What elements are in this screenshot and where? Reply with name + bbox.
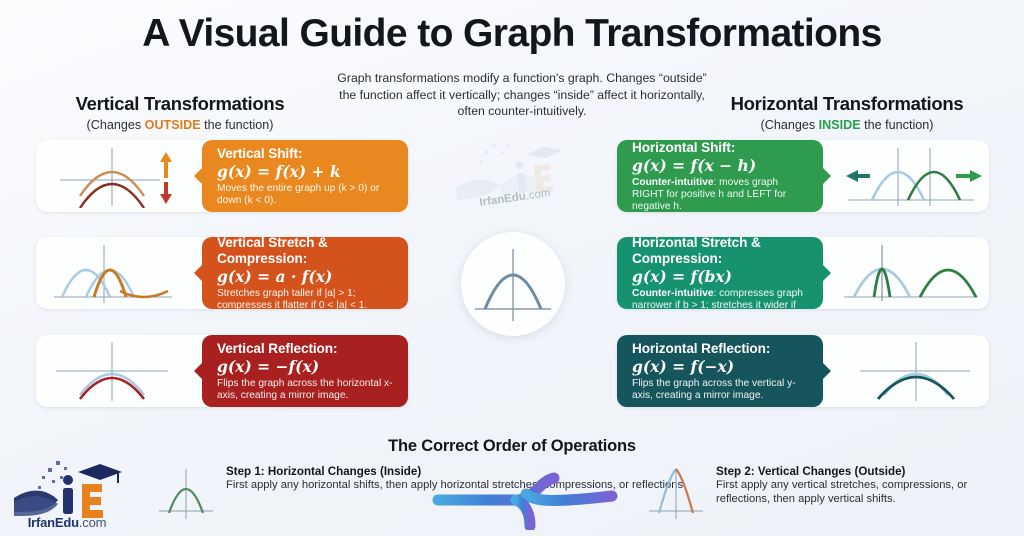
graph-horizontal-shift: [831, 140, 989, 212]
brand-name: IrfanEdu: [28, 515, 79, 530]
graph-vertical-shift: [36, 140, 194, 212]
card-title: Horizontal Shift:: [632, 140, 812, 156]
center-watermark-text: IrfanEdu.com: [455, 184, 576, 213]
step-2-graph: [645, 465, 707, 526]
card-title: Vertical Stretch & Compression:: [217, 235, 397, 266]
step1-chart-icon: [155, 465, 217, 521]
flow-arrow: [430, 470, 620, 530]
sub-pre-left: (Changes: [87, 118, 145, 132]
watermark-tld: .com: [525, 187, 551, 202]
step-2-body: First apply any vertical stretches, comp…: [716, 479, 1024, 506]
left-arrow-icon: [846, 170, 870, 182]
panel-vertical-shift: Vertical Shift: g(x) = f(x) + k Moves th…: [202, 140, 408, 212]
card-description: Stretches graph taller if |a| > 1; compr…: [217, 288, 397, 312]
horizontal-column-sub: (Changes INSIDE the function): [692, 118, 1002, 132]
sub-post-right: the function): [861, 118, 934, 132]
graph-horizontal-stretch: [831, 237, 989, 309]
horizontal-column-heading: Horizontal Transformations: [692, 93, 1002, 115]
card-horizontal-stretch[interactable]: Horizontal Stretch & Compression: g(x) =…: [617, 237, 989, 309]
watermark-name: IrfanEdu: [479, 191, 527, 209]
card-equation: g(x) = f(x) + k: [217, 162, 397, 181]
card-description: Counter-intuitive: moves graph RIGHT for…: [632, 177, 812, 213]
card-title: Vertical Reflection:: [217, 341, 397, 357]
card-horizontal-reflection[interactable]: Horizontal Reflection: g(x) = f(−x) Flip…: [617, 335, 989, 407]
card-equation: g(x) = −f(x): [217, 357, 397, 376]
panel-vertical-reflection: Vertical Reflection: g(x) = −f(x) Flips …: [202, 335, 408, 407]
card-title: Horizontal Reflection:: [632, 341, 812, 357]
panel-horizontal-shift: Horizontal Shift: g(x) = f(x − h) Counte…: [617, 140, 823, 212]
center-parabola-badge: [461, 232, 565, 336]
panel-horizontal-reflection: Horizontal Reflection: g(x) = f(−x) Flip…: [617, 335, 823, 407]
step-2-heading: Step 2: Vertical Changes (Outside): [716, 465, 1024, 478]
horizontal-stretch-chart-icon: [834, 241, 986, 305]
panel-vertical-stretch: Vertical Stretch & Compression: g(x) = a…: [202, 237, 408, 309]
center-parabola-chart-icon: [469, 243, 557, 325]
column-header-vertical: Vertical Transformations (Changes OUTSID…: [25, 93, 335, 132]
vertical-reflection-chart-icon: [40, 339, 190, 403]
page-title: A Visual Guide to Graph Transformations: [0, 12, 1024, 56]
column-header-horizontal: Horizontal Transformations (Changes INSI…: [692, 93, 1002, 132]
intro-paragraph: Graph transformations modify a function'…: [332, 70, 712, 120]
card-title: Vertical Shift:: [217, 146, 397, 162]
card-horizontal-shift[interactable]: Horizontal Shift: g(x) = f(x − h) Counte…: [617, 140, 989, 212]
step-1-graph: [155, 465, 217, 526]
step2-chart-icon: [645, 465, 707, 521]
card-equation: g(x) = f(x − h): [632, 156, 812, 175]
brand-tld: .com: [79, 515, 106, 530]
vertical-column-sub: (Changes OUTSIDE the function): [25, 118, 335, 132]
horizontal-shift-chart-icon: [834, 144, 986, 208]
card-description: Flips the graph across the horizontal x-…: [217, 378, 397, 402]
card-equation: g(x) = f(−x): [632, 357, 812, 376]
down-arrow-icon: [160, 182, 172, 204]
card-description: Counter-intuitive: compresses graph narr…: [632, 288, 812, 312]
brand-logo-text: IrfanEdu.com: [8, 515, 126, 530]
step-2: Step 2: Vertical Changes (Outside) First…: [645, 465, 1024, 526]
card-description: Flips the graph across the vertical y-ax…: [632, 378, 812, 402]
card-equation: g(x) = f(bx): [632, 267, 812, 286]
horizontal-reflection-chart-icon: [834, 339, 986, 403]
graph-horizontal-reflection: [831, 335, 989, 407]
vertical-stretch-chart-icon: [40, 241, 190, 305]
panel-horizontal-stretch: Horizontal Stretch & Compression: g(x) =…: [617, 237, 823, 309]
card-description: Moves the entire graph up (k > 0) or dow…: [217, 183, 397, 207]
card-description-emphasis: Counter-intuitive: [632, 288, 714, 299]
graph-vertical-stretch: [36, 237, 194, 309]
card-equation: g(x) = a · f(x): [217, 267, 397, 286]
vertical-shift-chart-icon: [40, 144, 190, 208]
sub-post-left: the function): [201, 118, 274, 132]
flow-arrow-icon: [430, 470, 620, 530]
step-2-text: Step 2: Vertical Changes (Outside) First…: [716, 465, 1024, 506]
card-description-emphasis: Counter-intuitive: [632, 177, 714, 188]
graph-vertical-reflection: [36, 335, 194, 407]
right-arrow-icon: [956, 170, 982, 182]
card-title: Horizontal Stretch & Compression:: [632, 235, 812, 266]
card-vertical-shift[interactable]: Vertical Shift: g(x) = f(x) + k Moves th…: [36, 140, 408, 212]
vertical-column-heading: Vertical Transformations: [25, 93, 335, 115]
up-arrow-icon: [160, 152, 172, 178]
card-vertical-reflection[interactable]: Vertical Reflection: g(x) = −f(x) Flips …: [36, 335, 408, 407]
outside-highlight: OUTSIDE: [145, 118, 201, 132]
card-vertical-stretch[interactable]: Vertical Stretch & Compression: g(x) = a…: [36, 237, 408, 309]
sub-pre-right: (Changes: [761, 118, 819, 132]
order-of-operations-title: The Correct Order of Operations: [0, 437, 1024, 456]
inside-highlight: INSIDE: [819, 118, 861, 132]
